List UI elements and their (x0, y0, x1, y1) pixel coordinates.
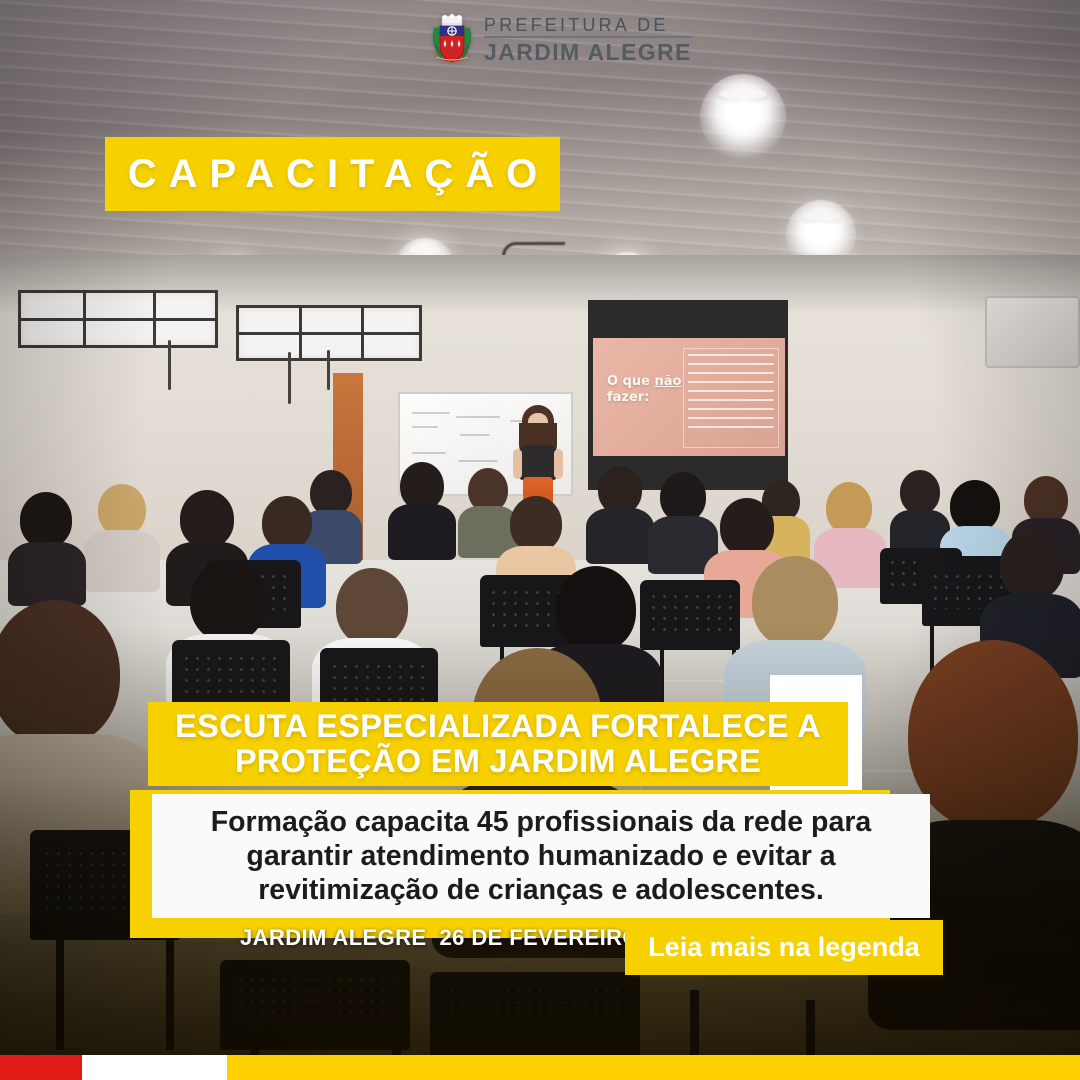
footer-red-segment (0, 1055, 82, 1080)
subtitle-text: Formação capacita 45 profissionais da re… (174, 805, 908, 908)
brand-logo: PREFEITURA DE JARDIM ALEGRE (430, 14, 692, 66)
footer-white-segment (82, 1055, 227, 1080)
brand-line-2: JARDIM ALEGRE (484, 41, 692, 64)
brand-wordmark: PREFEITURA DE JARDIM ALEGRE (484, 16, 692, 64)
brand-divider (484, 36, 692, 38)
headline-banner: ESCUTA ESPECIALIZADA FORTALECE A PROTEÇÃ… (148, 702, 848, 786)
kicker-label: CAPACITAÇÃO (116, 152, 550, 197)
brand-line-1: PREFEITURA DE (484, 16, 692, 34)
social-post-canvas: O que não fazer: (0, 0, 1080, 1080)
headline-text: ESCUTA ESPECIALIZADA FORTALECE A PROTEÇÃ… (164, 709, 832, 779)
kicker-banner: CAPACITAÇÃO (105, 137, 560, 211)
footer-yellow-segment (227, 1055, 1080, 1080)
location-date-label: JARDIM ALEGRE 26 DE FEVEREIRO (240, 925, 640, 951)
subtitle-box: Formação capacita 45 profissionais da re… (152, 794, 930, 918)
footer-color-bar (0, 1055, 1080, 1080)
cta-label: Leia mais na legenda (648, 932, 920, 963)
coat-of-arms-icon (430, 14, 474, 66)
read-more-button[interactable]: Leia mais na legenda (625, 920, 943, 975)
